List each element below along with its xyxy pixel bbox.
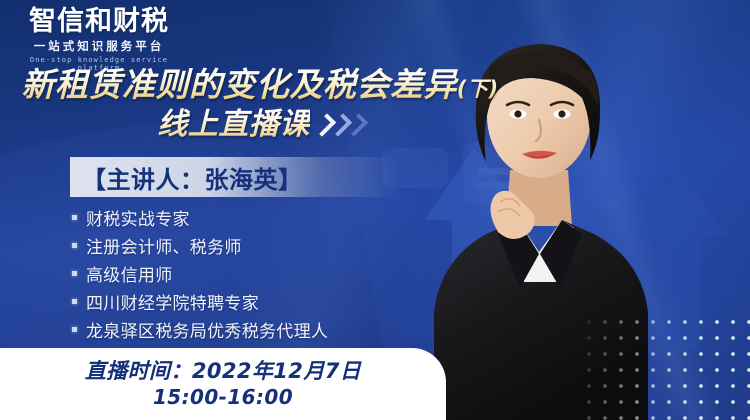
brand-logo-main: 智信和财税: [14, 8, 184, 36]
schedule-line-1: 直播时间：2022年12月7日: [85, 358, 361, 385]
brand-logo: 智信和财税 一站式知识服务平台 One-stop knowledge servi…: [14, 8, 184, 72]
credential-label: 高级信用师: [86, 261, 173, 286]
webinar-poster: 智信和财税 一站式知识服务平台 One-stop knowledge servi…: [0, 0, 750, 420]
list-item: 龙泉驿区税务局优秀税务代理人: [72, 317, 402, 342]
bullet-icon: [72, 299, 77, 304]
credential-label: 财税实战专家: [86, 205, 190, 230]
list-item: 高级信用师: [72, 261, 402, 286]
bullet-icon: [72, 327, 77, 332]
list-item: 四川财经学院特聘专家: [72, 289, 402, 314]
credentials-list: 财税实战专家 注册会计师、税务师 高级信用师 四川财经学院特聘专家 龙泉驿区税务…: [72, 205, 402, 345]
speaker-banner: 【主讲人：张海英】: [70, 157, 400, 197]
title-volume: (下): [457, 77, 499, 101]
bullet-icon: [72, 215, 77, 220]
dot-grid-icon: [575, 308, 750, 420]
title-line-1-text: 新租赁准则的变化及税会差异: [21, 65, 457, 104]
schedule-line-2: 15:00-16:00: [153, 385, 293, 411]
speaker-label: 【主讲人：张海英】: [70, 160, 303, 195]
poster-title: 新租赁准则的变化及税会差异(下) 线上直播课: [0, 66, 520, 143]
brand-logo-sub: 一站式知识服务平台: [14, 38, 184, 54]
list-item: 注册会计师、税务师: [72, 233, 402, 258]
schedule-panel: 直播时间：2022年12月7日 15:00-16:00: [0, 348, 446, 420]
title-line-1: 新租赁准则的变化及税会差异(下): [0, 66, 520, 105]
credential-label: 四川财经学院特聘专家: [86, 289, 259, 314]
bullet-icon: [72, 271, 77, 276]
title-line-2: 线上直播课: [157, 107, 310, 143]
credential-label: 注册会计师、税务师: [86, 233, 242, 258]
list-item: 财税实战专家: [72, 205, 402, 230]
bullet-icon: [72, 243, 77, 248]
title-line-2-row: 线上直播课: [0, 107, 520, 143]
credential-label: 龙泉驿区税务局优秀税务代理人: [86, 317, 328, 342]
double-chevron-right-icon: [318, 115, 363, 135]
